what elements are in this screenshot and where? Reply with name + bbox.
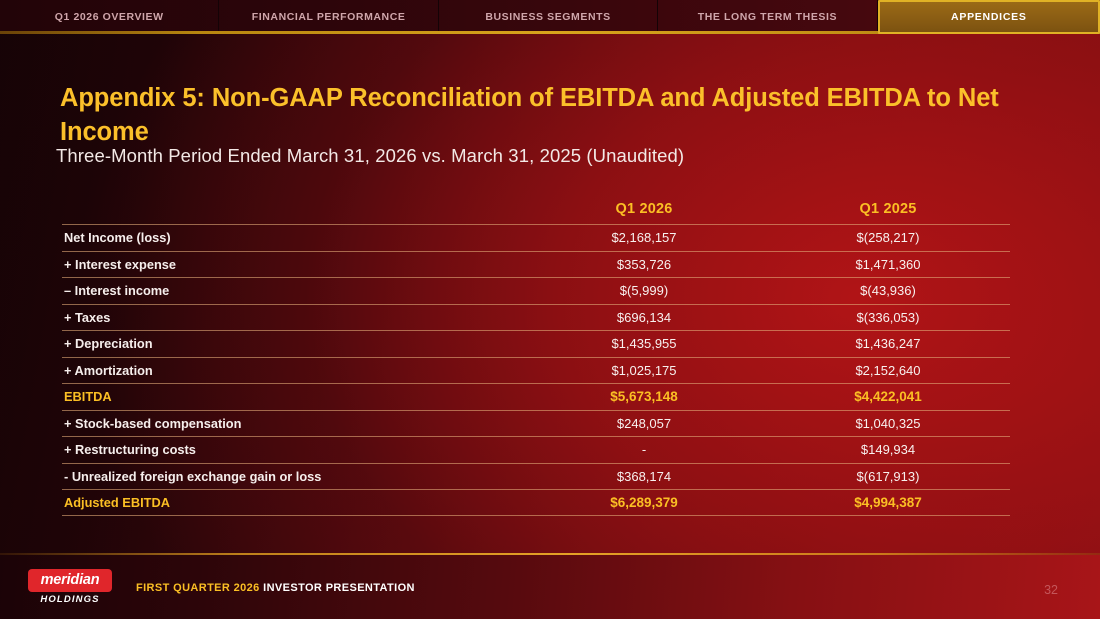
table-header-row: Q1 2026 Q1 2025: [62, 194, 1010, 224]
table-row: + Stock-based compensation $248,057 $1,0…: [62, 410, 1010, 437]
row-value-q1-2025: $(43,936): [766, 283, 1010, 298]
slide-root: Q1 2026 Overview Financial Performance B…: [0, 0, 1100, 619]
tab-label: Financial Performance: [252, 11, 406, 23]
tab-label: The Long Term Thesis: [698, 11, 837, 23]
row-value-q1-2025: $4,422,041: [766, 389, 1010, 404]
page-title: Appendix 5: Non-GAAP Reconciliation of E…: [60, 82, 1020, 149]
row-label: + Restructuring costs: [62, 442, 522, 457]
table-row: + Taxes $696,134 $(336,053): [62, 304, 1010, 331]
row-value-q1-2026: $5,673,148: [522, 389, 766, 404]
row-label: + Stock-based compensation: [62, 416, 522, 431]
row-value-q1-2026: $2,168,157: [522, 230, 766, 245]
row-value-q1-2026: $6,289,379: [522, 495, 766, 510]
row-value-q1-2025: $(617,913): [766, 469, 1010, 484]
row-value-q1-2026: $248,057: [522, 416, 766, 431]
row-value-q1-2026: $368,174: [522, 469, 766, 484]
logo-wordmark: meridian: [41, 572, 100, 588]
row-label: + Depreciation: [62, 336, 522, 351]
company-logo: meridian HOLDINGS: [28, 569, 112, 605]
logo-subtitle: HOLDINGS: [28, 594, 112, 605]
tab-label: Business Segments: [485, 11, 610, 23]
tab-label: Q1 2026 Overview: [55, 11, 164, 23]
row-value-q1-2026: $1,435,955: [522, 336, 766, 351]
row-value-q1-2025: $149,934: [766, 442, 1010, 457]
table-row-adjusted-ebitda-total: Adjusted EBITDA $6,289,379 $4,994,387: [62, 489, 1010, 516]
row-label: + Taxes: [62, 310, 522, 325]
reconciliation-table: Q1 2026 Q1 2025 Net Income (loss) $2,168…: [62, 194, 1010, 516]
tab-q1-2026-overview[interactable]: Q1 2026 Overview: [0, 0, 219, 34]
row-value-q1-2025: $1,471,360: [766, 257, 1010, 272]
footer-caption-rest: Investor Presentation: [263, 582, 415, 594]
row-label: – Interest income: [62, 283, 522, 298]
footer-caption-highlight: First Quarter 2026: [136, 582, 260, 594]
row-value-q1-2026: $(5,999): [522, 283, 766, 298]
row-label: - Unrealized foreign exchange gain or lo…: [62, 469, 522, 484]
table-row: - Unrealized foreign exchange gain or lo…: [62, 463, 1010, 490]
tab-business-segments[interactable]: Business Segments: [439, 0, 658, 34]
table-row: + Depreciation $1,435,955 $1,436,247: [62, 330, 1010, 357]
tab-appendices[interactable]: Appendices: [878, 0, 1100, 34]
row-label: Net Income (loss): [62, 230, 522, 245]
table-row: – Interest income $(5,999) $(43,936): [62, 277, 1010, 304]
footer-caption: First Quarter 2026 Investor Presentation: [136, 582, 415, 594]
row-value-q1-2025: $(258,217): [766, 230, 1010, 245]
row-value-q1-2026: $1,025,175: [522, 363, 766, 378]
row-label: Adjusted EBITDA: [62, 495, 522, 510]
row-value-q1-2025: $1,040,325: [766, 416, 1010, 431]
row-value-q1-2025: $2,152,640: [766, 363, 1010, 378]
tab-label: Appendices: [951, 11, 1027, 23]
row-value-q1-2025: $1,436,247: [766, 336, 1010, 351]
row-value-q1-2025: $4,994,387: [766, 495, 1010, 510]
column-header-q1-2025: Q1 2025: [766, 201, 1010, 217]
row-value-q1-2025: $(336,053): [766, 310, 1010, 325]
table-row: Net Income (loss) $2,168,157 $(258,217): [62, 224, 1010, 251]
row-label: + Interest expense: [62, 257, 522, 272]
table-row: + Interest expense $353,726 $1,471,360: [62, 251, 1010, 278]
row-label: EBITDA: [62, 389, 522, 404]
top-tab-bar: Q1 2026 Overview Financial Performance B…: [0, 0, 1100, 34]
slide-footer: meridian HOLDINGS First Quarter 2026 Inv…: [0, 555, 1100, 619]
table-row-ebitda-subtotal: EBITDA $5,673,148 $4,422,041: [62, 383, 1010, 410]
logo-badge: meridian: [28, 569, 112, 592]
row-label: + Amortization: [62, 363, 522, 378]
table-row: + Amortization $1,025,175 $2,152,640: [62, 357, 1010, 384]
column-header-q1-2026: Q1 2026: [522, 201, 766, 217]
tab-the-long-term-thesis[interactable]: The Long Term Thesis: [658, 0, 877, 34]
page-subtitle: Three-Month Period Ended March 31, 2026 …: [56, 145, 1016, 167]
table-row: + Restructuring costs - $149,934: [62, 436, 1010, 463]
row-value-q1-2026: $353,726: [522, 257, 766, 272]
row-value-q1-2026: $696,134: [522, 310, 766, 325]
tab-financial-performance[interactable]: Financial Performance: [219, 0, 438, 34]
page-number: 32: [1044, 583, 1058, 597]
row-value-q1-2026: -: [522, 442, 766, 457]
